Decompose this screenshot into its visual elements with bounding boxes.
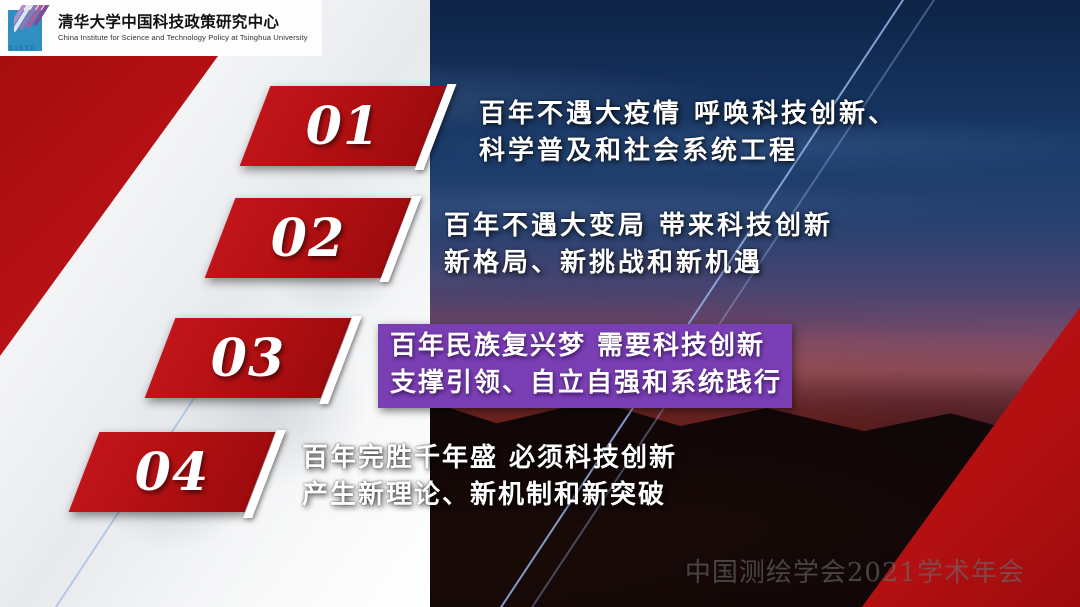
agenda-item-02[interactable]: 02 百年不遇大变局 带来科技创新 新格局、新挑战和新机遇 — [220, 198, 833, 282]
item-line1-03: 百年民族复兴梦 需要科技创新 — [390, 328, 782, 365]
agenda-item-04[interactable]: 04 百年完胜千年盛 必须科技创新 产生新理论、新机制和新突破 — [84, 432, 677, 514]
item-number-badge-01: 01 — [240, 86, 447, 166]
institute-logo-plate: CISTP 清华大学中国科技政策研究中心 China Institute for… — [0, 0, 322, 56]
item-number-badge-02: 02 — [205, 198, 412, 278]
item-number-03: 03 — [211, 328, 285, 389]
institute-name-en: China Institute for Science and Technolo… — [58, 33, 308, 42]
item-line2-04: 产生新理论、新机制和新突破 — [302, 477, 677, 514]
item-line2-02: 新格局、新挑战和新机遇 — [444, 245, 833, 282]
item-line1-02: 百年不遇大变局 带来科技创新 — [444, 208, 833, 245]
item-highlight-03: 百年民族复兴梦 需要科技创新 支撑引领、自立自强和系统践行 — [378, 324, 792, 408]
item-text-03: 百年民族复兴梦 需要科技创新 支撑引领、自立自强和系统践行 — [378, 324, 792, 408]
cistp-abbrev-label: CISTP — [9, 46, 37, 52]
institute-name-cn: 清华大学中国科技政策研究中心 — [58, 14, 308, 31]
item-number-01: 01 — [306, 96, 380, 157]
item-number-badge-03: 03 — [145, 318, 352, 398]
item-text-02: 百年不遇大变局 带来科技创新 新格局、新挑战和新机遇 — [444, 208, 833, 282]
item-number-04: 04 — [135, 442, 209, 503]
item-number-02: 02 — [271, 208, 345, 269]
item-line1-04: 百年完胜千年盛 必须科技创新 — [302, 440, 677, 477]
item-line2-01: 科学普及和社会系统工程 — [479, 133, 897, 170]
item-text-04: 百年完胜千年盛 必须科技创新 产生新理论、新机制和新突破 — [302, 440, 677, 514]
cistp-logo-icon: CISTP — [6, 5, 50, 51]
presentation-slide: CISTP 清华大学中国科技政策研究中心 China Institute for… — [0, 0, 1080, 607]
item-line2-03: 支撑引领、自立自强和系统践行 — [390, 365, 782, 402]
agenda-item-03[interactable]: 03 百年民族复兴梦 需要科技创新 支撑引领、自立自强和系统践行 — [160, 318, 792, 408]
item-line1-01: 百年不遇大疫情 呼唤科技创新、 — [479, 96, 897, 133]
conference-watermark: 中国测绘学会2021学术年会 — [685, 552, 1025, 589]
item-number-badge-04: 04 — [69, 432, 276, 512]
agenda-item-01[interactable]: 01 百年不遇大疫情 呼唤科技创新、 科学普及和社会系统工程 — [255, 86, 897, 170]
item-text-01: 百年不遇大疫情 呼唤科技创新、 科学普及和社会系统工程 — [479, 96, 897, 170]
